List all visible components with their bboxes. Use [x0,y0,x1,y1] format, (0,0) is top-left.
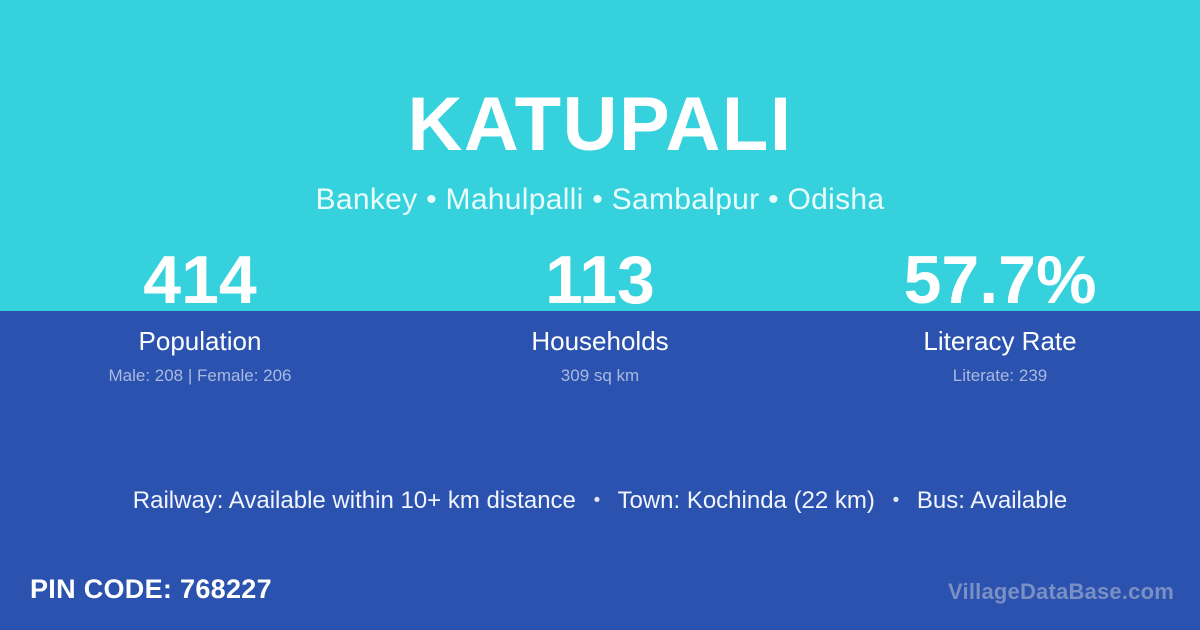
facility-bus: Bus: Available [917,487,1067,514]
stat-block-population: 414 Population Male: 208 | Female: 206 [0,246,400,387]
pin-code-label: PIN CODE: 768227 [30,572,272,606]
facility-railway: Railway: Available within 10+ km distanc… [133,487,576,514]
page-title: KATUPALI [0,79,1200,171]
stat-value-households: 113 [400,246,800,314]
stat-value-literacy: 57.7% [800,246,1200,314]
stat-detail-literacy: Literate: 239 [800,365,1200,387]
stat-value-population: 414 [0,246,400,314]
bullet-separator-icon: • [583,486,612,516]
village-info-card: KATUPALI Bankey • Mahulpalli • Sambalpur… [0,0,1200,630]
stat-label-literacy: Literacy Rate [800,326,1200,356]
stat-label-households: Households [400,326,800,356]
bullet-separator-icon: • [882,486,911,516]
stat-label-population: Population [0,326,400,356]
stats-row: 414 Population Male: 208 | Female: 206 1… [0,246,1200,387]
stat-detail-households: 309 sq km [400,365,800,387]
facility-town: Town: Kochinda (22 km) [617,487,874,514]
breadcrumb: Bankey • Mahulpalli • Sambalpur • Odisha [0,181,1200,219]
card-footer: PIN CODE: 768227 VillageDataBase.com [0,572,1200,614]
facilities-line: Railway: Available within 10+ km distanc… [0,486,1200,516]
site-brand-watermark: VillageDataBase.com [948,578,1174,606]
stat-block-households: 113 Households 309 sq km [400,246,800,387]
stat-detail-population: Male: 208 | Female: 206 [0,365,400,387]
stat-block-literacy: 57.7% Literacy Rate Literate: 239 [800,246,1200,387]
